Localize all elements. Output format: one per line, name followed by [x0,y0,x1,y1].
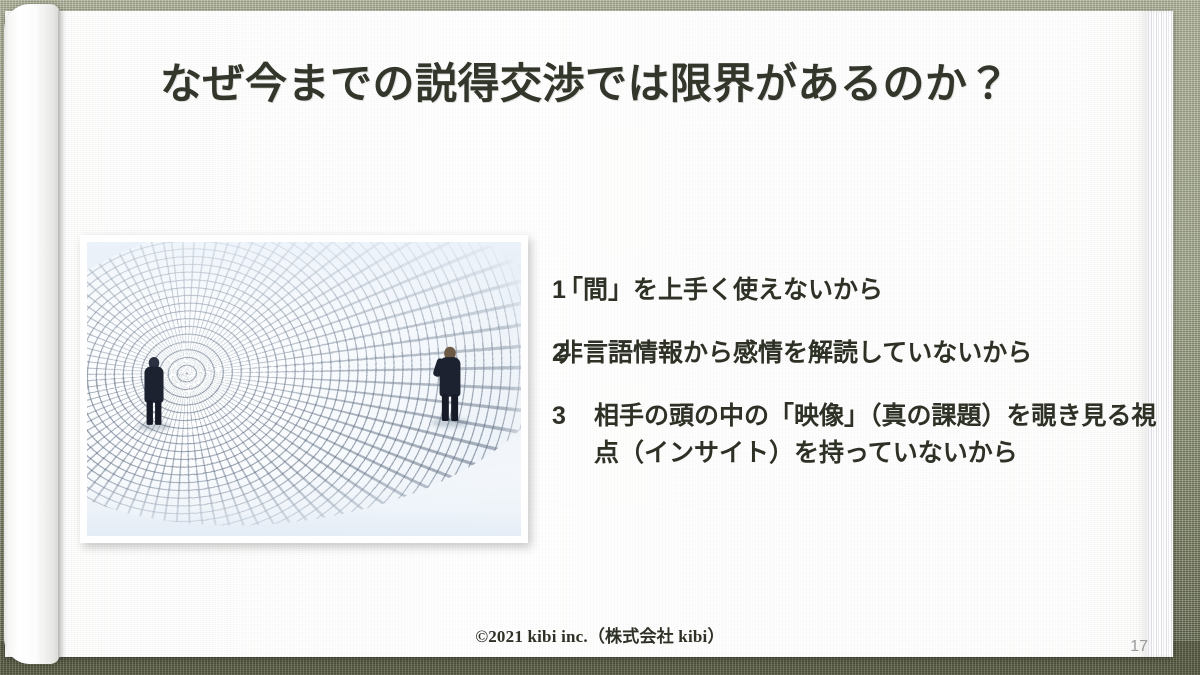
figure-leg-right [155,400,161,424]
list-item-label: 「間」を上手く使えないから [598,272,1162,309]
list-item-number: 3 [552,398,598,435]
list-item: 3 相手の頭の中の「映像」（真の課題）を覗き見る視点（インサイト）を持っていない… [552,398,1162,472]
businessman-figure-left [142,357,165,427]
maze-photo [87,242,521,536]
slide-title: なぜ今までの説得交渉では限界があるのか？ [70,58,1100,111]
list-item-label: 相手の頭の中の「映像」（真の課題）を覗き見る視点（インサイト）を持っていないから [594,398,1162,472]
figure-shadow [137,423,171,430]
figure-leg-left [442,394,449,421]
figure-body [144,367,163,403]
slide-page-number: 17 [1130,638,1148,656]
reason-list: 1 「間」を上手く使えないから 2 非言語情報から感情を解読していないから 3 … [552,272,1162,498]
maze-photo-frame [80,235,528,543]
slide-content: なぜ今までの説得交渉では限界があるのか？ [0,0,1200,675]
list-item-label: 非言語情報から感情を解読していないから [598,335,1162,372]
businessman-figure-right [437,347,463,424]
list-item: 2 非言語情報から感情を解読していないから [552,335,1162,372]
figure-leg-right [451,394,458,421]
maze-photo-floor [87,471,521,536]
copyright-footer: ©2021 kibi inc.（株式会社 kibi） [0,622,1200,647]
presentation-slide: なぜ今までの説得交渉では限界があるのか？ [0,0,1200,675]
figure-shadow [431,419,468,427]
figure-leg-left [147,400,153,424]
list-item: 1 「間」を上手く使えないから [552,272,1162,309]
